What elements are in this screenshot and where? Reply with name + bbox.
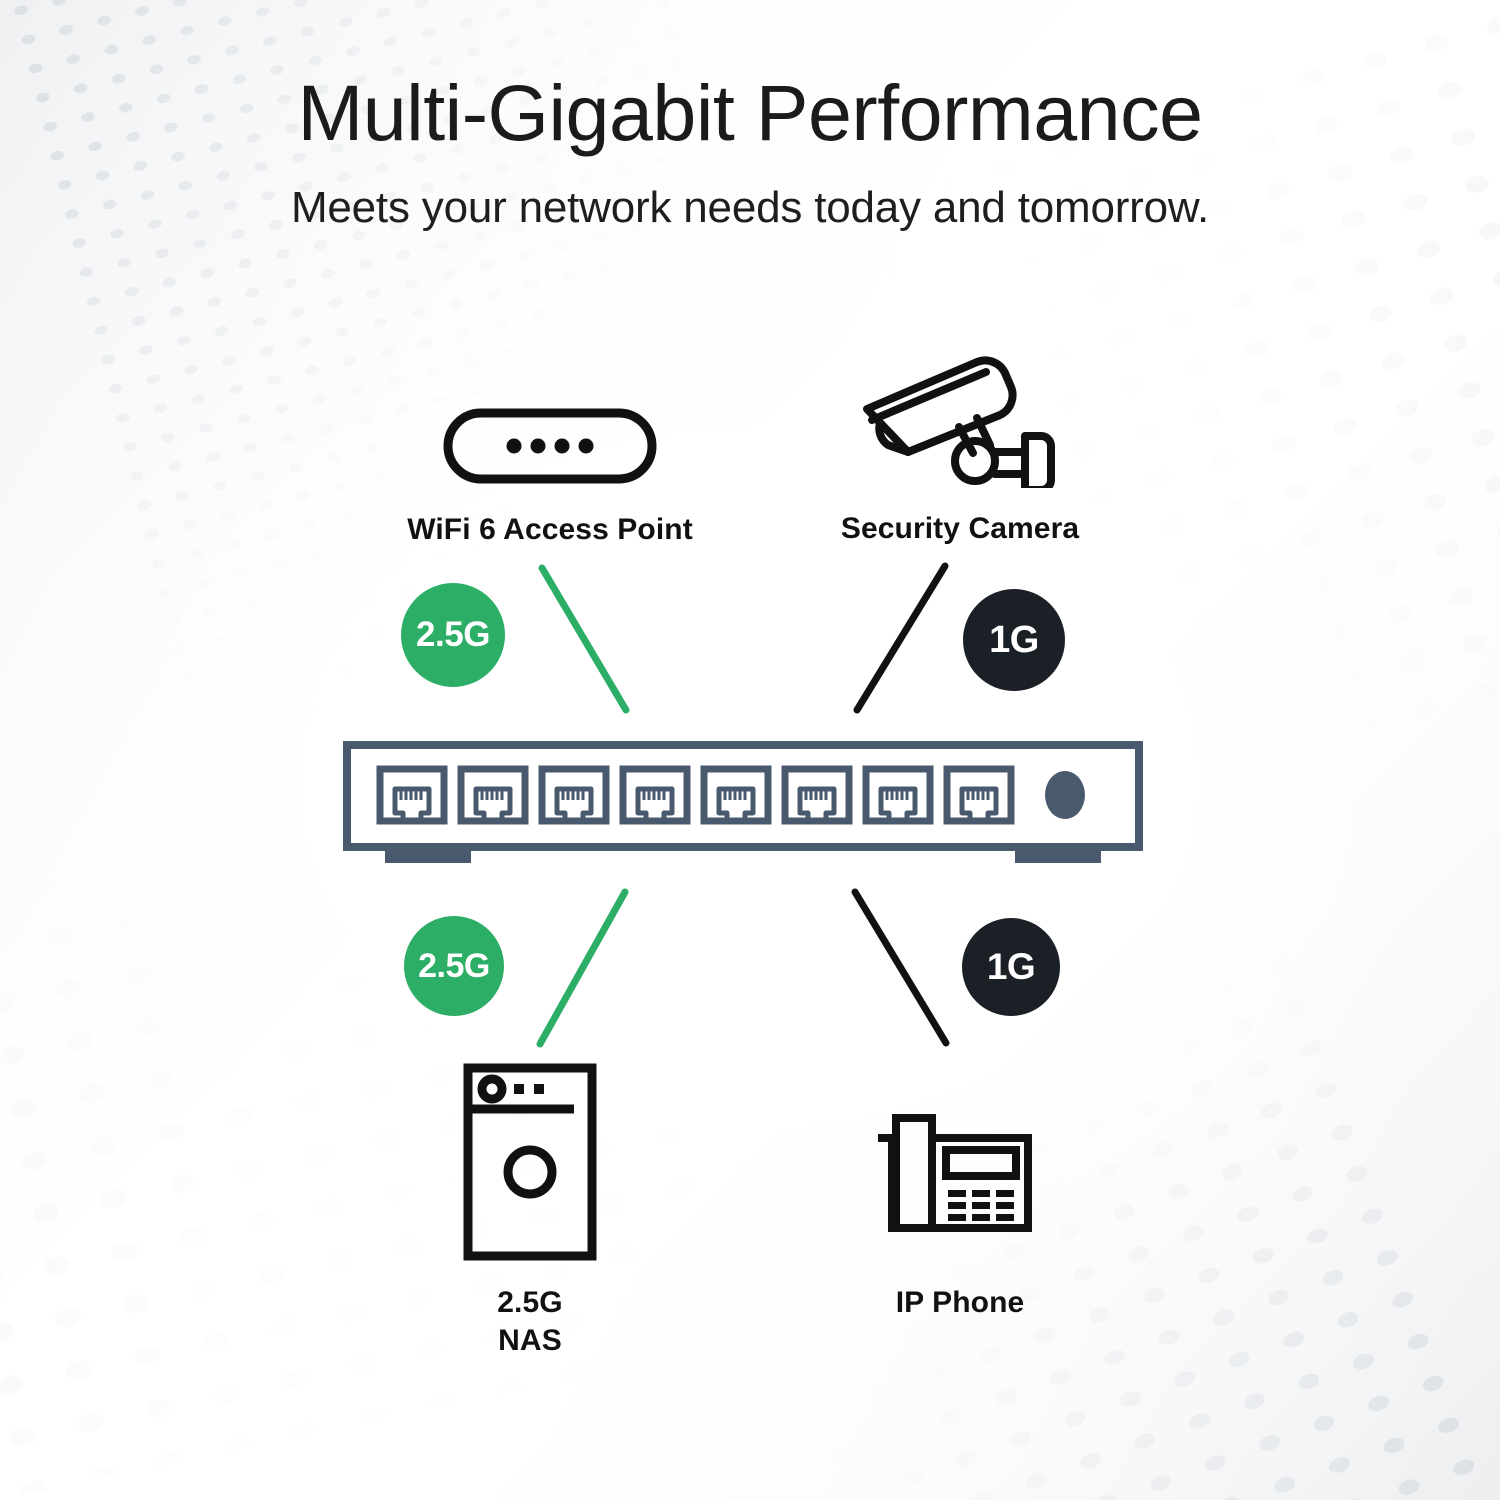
access-point-icon-wrapper <box>370 375 730 485</box>
node-label-security-camera: Security Camera <box>790 510 1130 548</box>
power-led-indicator[interactable] <box>1045 771 1085 819</box>
nas-icon <box>462 1062 598 1262</box>
node-nas[interactable]: 2.5G NAS <box>390 1062 670 1361</box>
badge-speed-nas[interactable]: 2.5G <box>404 916 504 1016</box>
node-wifi-6-access-point[interactable]: WiFi 6 Access Point <box>370 375 730 549</box>
nas-icon-wrapper <box>390 1062 670 1262</box>
badge-label: 1G <box>987 946 1035 988</box>
node-security-camera[interactable]: Security Camera <box>790 348 1130 548</box>
badge-speed-security-camera[interactable]: 1G <box>963 589 1065 691</box>
node-ip-phone[interactable]: IP Phone <box>820 1100 1100 1322</box>
ip-phone-icon-wrapper <box>820 1100 1100 1260</box>
ip-phone-icon <box>872 1110 1048 1260</box>
badge-label: 2.5G <box>416 615 490 655</box>
badge-label: 2.5G <box>418 947 490 986</box>
badge-label: 1G <box>989 619 1039 662</box>
security-camera-icon-wrapper <box>790 348 1130 488</box>
switch-chassis <box>347 745 1139 847</box>
marketing-infographic: Multi-Gigabit Performance Meets your net… <box>0 0 1500 1500</box>
node-label-ip-phone: IP Phone <box>820 1284 1100 1322</box>
node-label-nas: 2.5G NAS <box>390 1284 670 1361</box>
badge-speed-ip-phone[interactable]: 1G <box>962 918 1060 1016</box>
access-point-icon <box>442 407 658 485</box>
network-switch-device[interactable] <box>343 741 1143 868</box>
topology-diagram: WiFi 6 Access Point <box>0 0 1500 1500</box>
security-camera-icon <box>855 348 1065 488</box>
badge-speed-access-point[interactable]: 2.5G <box>401 583 505 687</box>
node-label-access-point: WiFi 6 Access Point <box>370 511 730 549</box>
